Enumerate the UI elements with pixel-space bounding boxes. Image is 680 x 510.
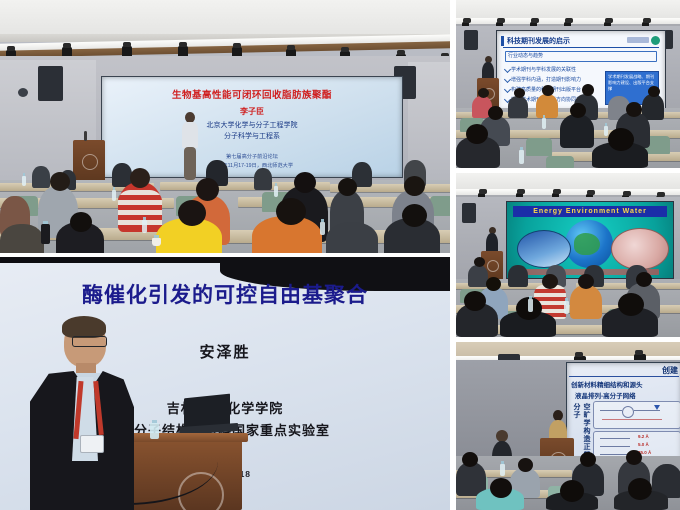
arrow-down-icon	[654, 405, 660, 410]
journal-slide-title: 科技期刊发展的启示	[507, 36, 570, 46]
audience-head	[560, 480, 584, 502]
eew-banner: Energy Environment Water	[513, 206, 667, 217]
chair	[526, 138, 552, 156]
audience-head	[608, 128, 634, 151]
podium-emblem	[82, 154, 98, 170]
audience-head	[276, 198, 306, 225]
audience-member	[326, 222, 378, 253]
wall-speaker-left	[464, 30, 478, 50]
audience-member	[0, 224, 44, 253]
molecule-bond	[600, 446, 630, 447]
ceiling-truss-white	[456, 189, 680, 195]
water-bottle	[142, 220, 147, 233]
glasses-icon	[72, 336, 107, 347]
lecture-hall-scene: 生物基高性能可闭环回收脂肪族聚酯 李子臣 北京大学化学与分子工程学院 分子科学与…	[0, 0, 450, 253]
closeup-slide-title: 酶催化引发的可控自由基聚合	[0, 279, 450, 309]
eew-scene: Energy Environment Water	[456, 173, 680, 337]
audience-member	[508, 265, 528, 287]
slide-title: 生物基高性能可闭环回收脂肪族聚酯	[102, 87, 402, 101]
molecule-bond	[634, 410, 660, 411]
audience-head	[648, 86, 660, 97]
panel-speaker-closeup: 酶催化引发的可控自由基聚合 安泽胜 吉林大学 化学学院 超分子结构与材料国家重点…	[0, 257, 450, 510]
wall-speaker-left	[462, 203, 476, 223]
audience-head	[474, 257, 485, 267]
water-bottle	[274, 186, 278, 197]
presenter-standing	[181, 112, 199, 180]
wall-speaker-left	[38, 66, 63, 101]
badge	[80, 435, 104, 453]
annotation-9-2: 9.2 Å	[638, 434, 649, 439]
materials-slide-header: 创建	[662, 365, 678, 376]
bullet-marker-icon	[504, 86, 511, 93]
presenter-torso	[182, 122, 198, 148]
materials-slide-line-2: 液晶排列-高分子网络	[575, 390, 636, 400]
presenter-closeup	[24, 319, 136, 510]
audience-head	[464, 291, 486, 311]
slide-affiliation-line-1: 北京大学化学与分子工程学院	[102, 120, 402, 130]
water-bottle	[150, 423, 159, 439]
slide-logo-icon	[651, 36, 660, 45]
audience-head	[542, 85, 554, 96]
water-bottle	[519, 150, 524, 164]
molecule-ring-icon	[622, 406, 634, 418]
audience-head	[582, 84, 594, 96]
audience-head	[580, 452, 596, 467]
audience-head	[196, 178, 219, 201]
journal-slide-bullet: 学术期刊与学科发展的关联性	[511, 66, 576, 73]
audience-head	[478, 88, 489, 98]
audience-head	[486, 277, 501, 291]
slide-logo-text	[627, 37, 649, 43]
audience-head	[618, 293, 644, 316]
molecule-bond	[600, 410, 622, 411]
bullet-marker-icon	[504, 76, 511, 83]
closeup-scene: 酶催化引发的可控自由基聚合 安泽胜 吉林大学 化学学院 超分子结构与材料国家重点…	[0, 257, 450, 510]
audience-head	[294, 172, 316, 193]
audience-head	[578, 274, 594, 289]
podium-mic	[84, 131, 87, 141]
water-bottle	[604, 126, 608, 136]
panel-lecture-hall-wide: 生物基高性能可闭环回收脂肪族聚酯 李子臣 北京大学化学与分子工程学院 分子科学与…	[0, 0, 450, 253]
slide-affiliation-line-2: 分子科学与工程系	[102, 131, 402, 141]
audience-member	[560, 114, 594, 148]
audience-member-stripes	[118, 190, 162, 230]
panel-materials-talk: 创建 创新材料精细结构和源头 液晶排列-高分子网络 空旷学构造正常分子 9.2	[456, 342, 680, 510]
audience-head	[178, 200, 206, 226]
audience-member	[254, 168, 272, 190]
slide-accent-bar	[501, 36, 504, 46]
audience-head	[626, 450, 642, 465]
audience-head	[636, 272, 652, 287]
water-photo	[517, 230, 571, 268]
audience-head	[70, 212, 92, 232]
slide-presenter-name: 李子臣	[102, 106, 402, 117]
audience-head	[404, 176, 425, 196]
presenter-hair	[62, 316, 106, 338]
audience-member	[570, 285, 602, 319]
audience-head	[402, 204, 427, 227]
projector-mount	[18, 88, 28, 97]
audience-head	[570, 103, 586, 118]
projection-screen: 创建 创新材料精细结构和源头 液晶排列-高分子网络 空旷学构造正常分子 9.2	[566, 362, 680, 462]
audience-head	[628, 478, 652, 500]
slide-title-underline	[569, 376, 679, 377]
chair	[546, 156, 574, 168]
journal-slide-subtitle: 行业动态与趋势	[508, 52, 543, 59]
audience-member	[468, 265, 488, 287]
audience-head	[488, 106, 503, 120]
audience-head	[462, 452, 478, 467]
audience-head	[490, 478, 512, 498]
audience-head	[130, 168, 150, 188]
molecule-bond	[600, 438, 630, 439]
audience-head	[518, 458, 533, 472]
audience-head	[626, 102, 642, 117]
photo-collage: 生物基高性能可闭环回收脂肪族聚酯 李子臣 北京大学化学与分子工程学院 分子科学与…	[0, 0, 680, 510]
audience-member	[32, 166, 50, 188]
chemical-structure-panel	[593, 401, 680, 429]
podium	[73, 140, 105, 182]
bullet-marker-icon	[504, 66, 511, 73]
audience-head	[466, 124, 488, 144]
drought-photo	[611, 228, 669, 270]
slide-footer-line-1: 第七届高分子前沿论坛	[102, 153, 402, 160]
water-bottle	[320, 222, 325, 235]
audience-head	[338, 178, 357, 196]
water-bottle	[22, 176, 26, 186]
audience-member	[508, 96, 528, 118]
annotation-5-0: 5.0 Å	[638, 442, 649, 447]
presenter-legs	[184, 147, 196, 180]
audience-head	[50, 172, 70, 191]
journal-slide-bullet: 增强学科内涵，打造期刊影响力	[511, 76, 581, 83]
water-bottle	[112, 190, 116, 201]
water-bottle	[564, 301, 569, 314]
thermos	[41, 224, 50, 244]
molecule-bond	[602, 419, 662, 420]
water-bottle	[542, 118, 546, 129]
panel-energy-environment-water: Energy Environment Water	[456, 173, 680, 337]
globe-image	[565, 220, 613, 268]
podium-emblem	[487, 260, 499, 272]
audience-head	[514, 88, 525, 98]
panel-journal-talk: 科技期刊发展的启示 行业动态与趋势 学术期刊与学科发展的关联性 增强学科内涵，打…	[456, 0, 680, 168]
audience-member	[536, 94, 558, 118]
water-bottle	[528, 299, 533, 312]
audience-head	[542, 274, 558, 289]
water-bottle	[500, 464, 505, 476]
paper-cup	[152, 238, 161, 246]
slide-title-underline	[503, 47, 659, 48]
materials-talk-scene: 创建 创新材料精细结构和源头 液晶排列-高分子网络 空旷学构造正常分子 9.2	[456, 342, 680, 510]
journal-talk-scene: 科技期刊发展的启示 行业动态与趋势 学术期刊与学科发展的关联性 增强学科内涵，打…	[456, 0, 680, 168]
materials-slide-line-1: 创新材料精细结构和源头	[571, 379, 643, 389]
